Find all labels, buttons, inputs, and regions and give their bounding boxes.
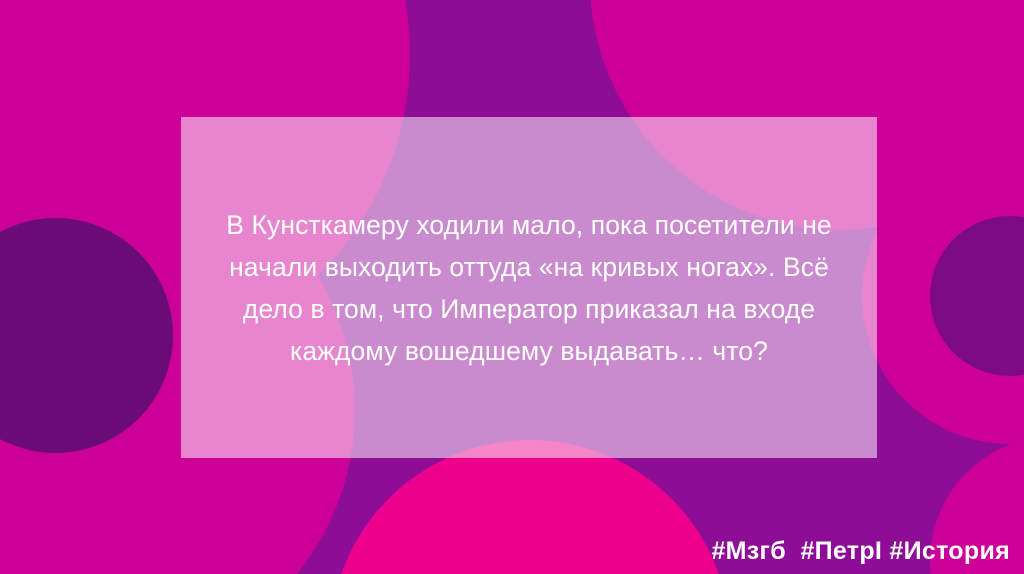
quote-text: В Кунсткамеру ходили мало, пока посетите… — [209, 204, 849, 372]
hashtags-label: #Мзгб #ПетрI #История — [711, 537, 1010, 566]
decor-circle-left-hole — [0, 218, 173, 453]
decor-ring-right — [862, 148, 1024, 444]
decor-circle-bottom — [330, 440, 730, 574]
slide-canvas: В Кунсткамеру ходили мало, пока посетите… — [0, 0, 1024, 574]
decor-ring-right-hole — [930, 216, 1024, 376]
quote-panel: В Кунсткамеру ходили мало, пока посетите… — [181, 117, 877, 458]
